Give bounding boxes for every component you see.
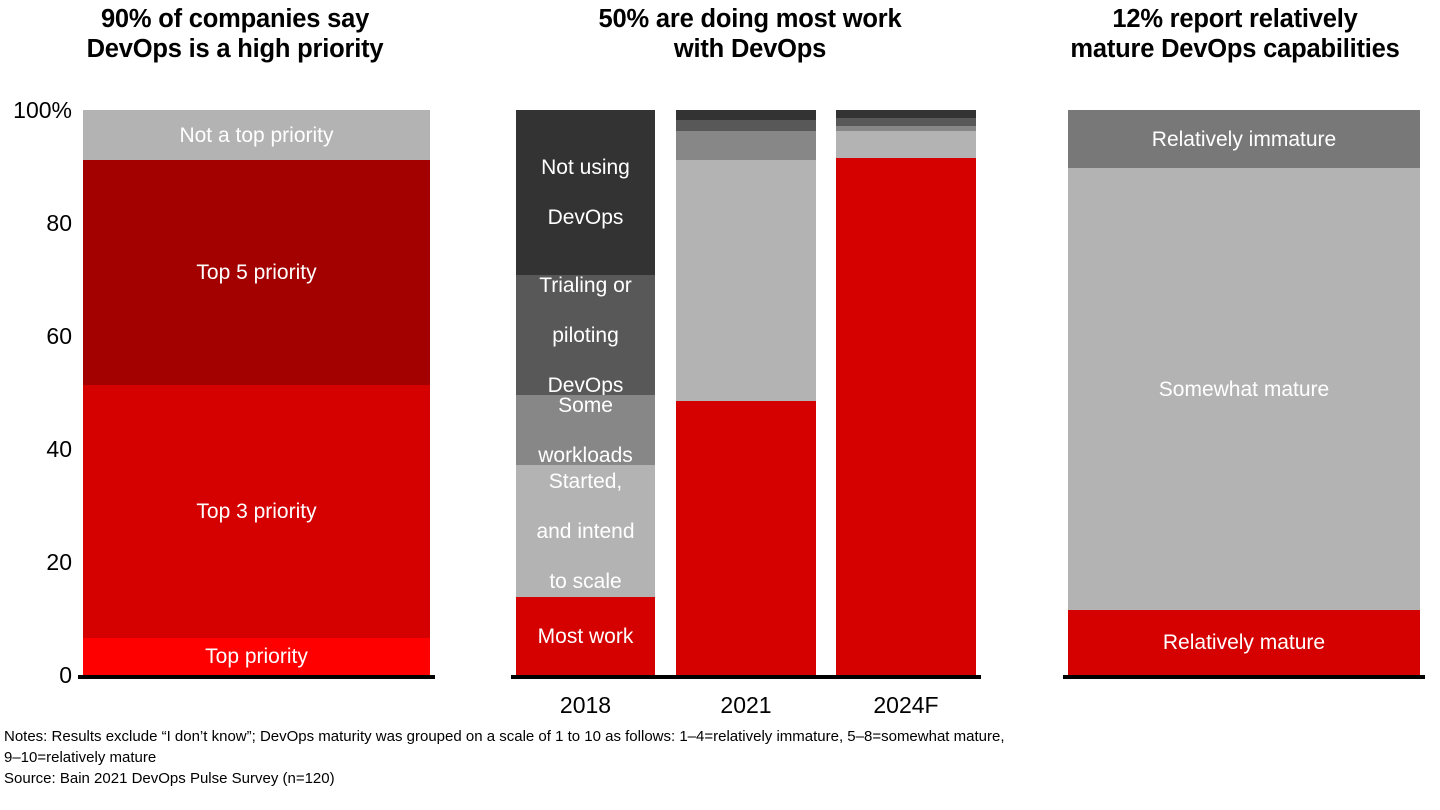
segment-label-not-using-line-2: DevOps [520,205,651,230]
segment-relatively-immature[interactable]: Relatively immature [1068,110,1420,168]
panel-adoption: 50% are doing most work with DevOps Not … [470,0,1030,730]
segment-trialing-piloting-2021[interactable] [676,120,816,131]
footer-notes-line-1: Notes: Results exclude “I don’t know”; D… [0,726,1440,747]
xtick-2021: 2021 [676,694,816,717]
segment-label-trialing-line-2: piloting [520,323,651,348]
xtick-2018: 2018 [516,694,655,717]
segment-most-work-2018[interactable]: Most work [516,597,655,675]
panel-1-baseline [78,675,435,679]
segment-not-using-devops-2018[interactable]: Not using DevOps [516,110,655,275]
segment-top-5-priority[interactable]: Top 5 priority [83,160,430,385]
segment-not-using-devops-2021[interactable] [676,110,816,120]
segment-label-started-line-1: Started, [520,469,651,494]
segment-started-intend-to-scale-2018[interactable]: Started, and intend to scale [516,465,655,597]
segment-not-using-devops-2024f[interactable] [836,110,976,118]
panel-2-plot: Not using DevOps Trialing or piloting De… [470,0,1030,730]
segment-relatively-mature[interactable]: Relatively mature [1068,610,1420,675]
segment-label-top-priority: Top priority [83,644,430,669]
segment-label-top-5-priority: Top 5 priority [83,260,430,285]
ytick-40: 40 [0,438,72,461]
segment-trialing-piloting-2024f[interactable] [836,118,976,126]
segment-some-workloads-2021[interactable] [676,131,816,160]
segment-label-started-line-2: and intend [520,519,651,544]
panel-maturity: 12% report relatively mature DevOps capa… [1030,0,1440,730]
segment-top-3-priority[interactable]: Top 3 priority [83,385,430,638]
bar-maturity[interactable]: Relatively immature Somewhat mature Rela… [1068,110,1420,675]
segment-most-work-2024f[interactable] [836,158,976,675]
ytick-80: 80 [0,212,72,235]
segment-label-trialing-line-1: Trialing or [520,275,651,298]
ytick-60: 60 [0,325,72,348]
ytick-0: 0 [0,664,72,687]
ytick-20: 20 [0,551,72,574]
segment-label-started-line-3: to scale [520,569,651,594]
footer-notes-line-2: 9–10=relatively mature [0,747,1440,768]
segment-most-work-2021[interactable] [676,401,816,675]
panel-2-baseline [511,675,981,679]
segment-label-not-a-top-priority: Not a top priority [83,123,430,148]
segment-label-relatively-immature: Relatively immature [1068,127,1420,152]
xtick-2024f: 2024F [836,694,976,717]
segment-started-intend-to-scale-2021[interactable] [676,160,816,401]
segment-some-workloads-2018[interactable]: Some workloads [516,395,655,465]
segment-label-most-work: Most work [516,624,655,649]
segment-not-a-top-priority[interactable]: Not a top priority [83,110,430,160]
footer-source: Source: Bain 2021 DevOps Pulse Survey (n… [0,768,1440,789]
bar-priority[interactable]: Not a top priority Top 5 priority Top 3 … [83,110,430,675]
segment-label-some-workloads-line-2: workloads [520,443,651,466]
ytick-100: 100% [0,99,72,122]
segment-label-some-workloads-line-1: Some [520,395,651,418]
bar-2021[interactable] [676,110,816,675]
footer: Notes: Results exclude “I don’t know”; D… [0,726,1440,789]
segment-label-top-3-priority: Top 3 priority [83,499,430,524]
segment-somewhat-mature[interactable]: Somewhat mature [1068,168,1420,610]
panel-3-plot: Relatively immature Somewhat mature Rela… [1030,0,1440,730]
bar-2018[interactable]: Not using DevOps Trialing or piloting De… [516,110,655,675]
segment-top-priority[interactable]: Top priority [83,638,430,675]
panel-1-plot: 100% 80 60 40 20 0 Not a top priority To… [0,0,470,730]
segment-label-not-using-line-1: Not using [520,155,651,180]
segment-label-relatively-mature: Relatively mature [1068,630,1420,655]
segment-trialing-piloting-2018[interactable]: Trialing or piloting DevOps [516,275,655,395]
segment-label-trialing-line-3: DevOps [520,373,651,396]
panel-priority: 90% of companies say DevOps is a high pr… [0,0,470,730]
bar-2024f[interactable] [836,110,976,675]
panel-3-baseline [1063,675,1425,679]
segment-started-intend-to-scale-2024f[interactable] [836,131,976,158]
segment-label-somewhat-mature: Somewhat mature [1068,377,1420,402]
